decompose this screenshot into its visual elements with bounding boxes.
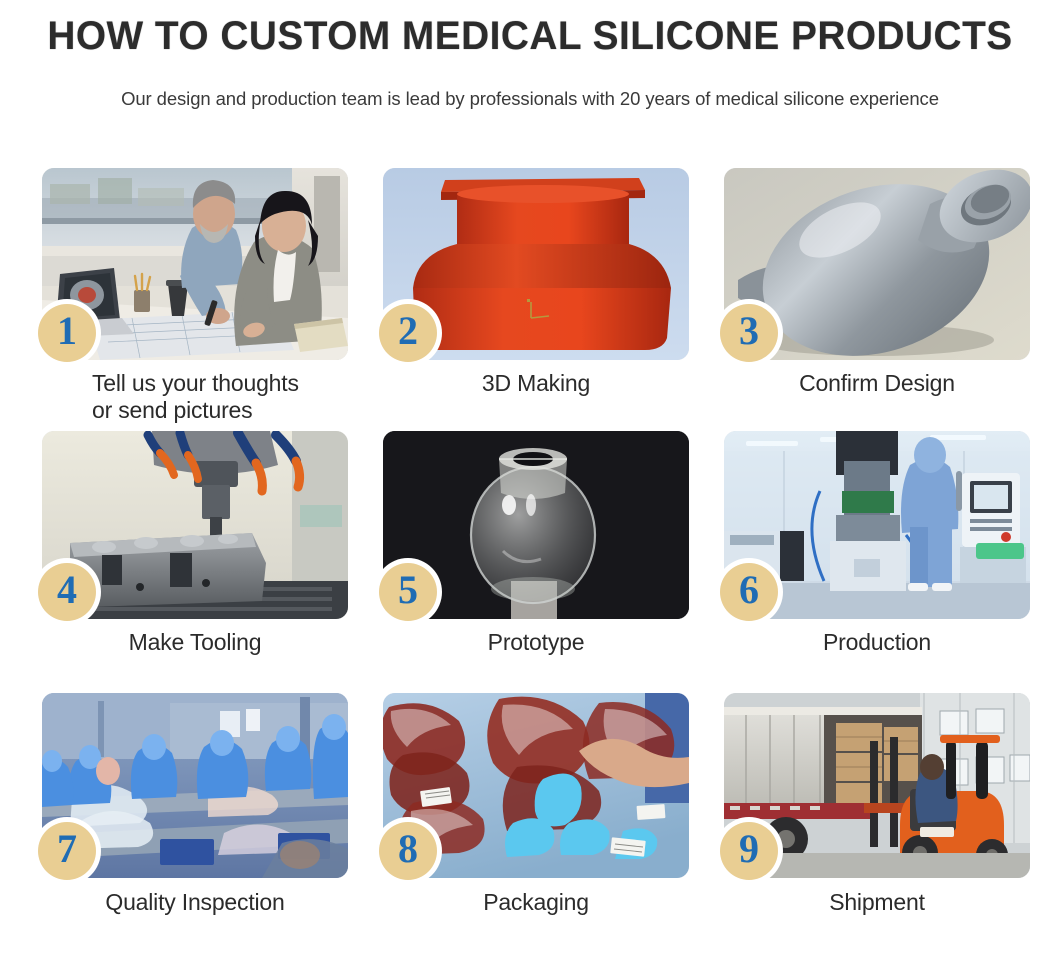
- step-card-4[interactable]: 4 Make Tooling: [42, 431, 348, 690]
- step-number-4: 4: [57, 570, 77, 610]
- step-badge-7: 7: [38, 822, 96, 880]
- step-caption-6: Production: [724, 629, 1030, 656]
- infographic-page: HOW TO CUSTOM MEDICAL SILICONE PRODUCTS …: [0, 0, 1060, 945]
- step-card-3[interactable]: 3 Confirm Design: [724, 168, 1030, 428]
- step-card-6[interactable]: 6 Production: [724, 431, 1030, 690]
- step-card-5[interactable]: 5 Prototype: [383, 431, 689, 690]
- page-title: HOW TO CUSTOM MEDICAL SILICONE PRODUCTS: [16, 14, 1044, 59]
- step-badge-4: 4: [38, 563, 96, 621]
- step-number-7: 7: [57, 829, 77, 869]
- step-caption-4: Make Tooling: [42, 629, 348, 656]
- step-number-2: 2: [398, 311, 418, 351]
- step-card-7[interactable]: 7 Quality Inspection: [42, 693, 348, 953]
- step-number-6: 6: [739, 570, 759, 610]
- step-number-5: 5: [398, 570, 418, 610]
- step-caption-5: Prototype: [383, 629, 689, 656]
- step-number-9: 9: [739, 829, 759, 869]
- steps-grid: 1 Tell us your thoughtsor send pictures: [42, 168, 1022, 928]
- step-caption-2: 3D Making: [383, 370, 689, 397]
- step-badge-1: 1: [38, 304, 96, 362]
- step-caption-1: Tell us your thoughtsor send pictures: [42, 370, 348, 424]
- step-caption-8: Packaging: [383, 889, 689, 916]
- step-number-8: 8: [398, 829, 418, 869]
- step-card-9[interactable]: 9 Shipment: [724, 693, 1030, 953]
- step-card-8[interactable]: 8 Packaging: [383, 693, 689, 953]
- step-badge-3: 3: [720, 304, 778, 362]
- step-number-3: 3: [739, 311, 759, 351]
- step-badge-2: 2: [379, 304, 437, 362]
- step-caption-9: Shipment: [724, 889, 1030, 916]
- step-caption-7: Quality Inspection: [42, 889, 348, 916]
- step-badge-9: 9: [720, 822, 778, 880]
- step-caption-3: Confirm Design: [724, 370, 1030, 397]
- step-badge-8: 8: [379, 822, 437, 880]
- step-badge-5: 5: [379, 563, 437, 621]
- step-badge-6: 6: [720, 563, 778, 621]
- step-number-1: 1: [57, 311, 77, 351]
- step-card-2[interactable]: 2 3D Making: [383, 168, 689, 428]
- page-subtitle: Our design and production team is lead b…: [0, 88, 1060, 110]
- step-card-1[interactable]: 1 Tell us your thoughtsor send pictures: [42, 168, 348, 428]
